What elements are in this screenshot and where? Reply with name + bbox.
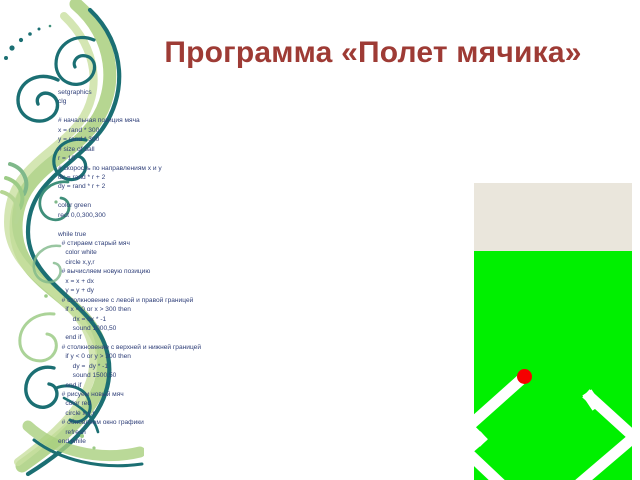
code-line: y = rand * 300	[58, 135, 308, 144]
code-line: dy = dy * -1	[58, 362, 308, 371]
code-line: # столкновение с левой и правой границей	[58, 296, 308, 305]
code-line	[58, 220, 308, 229]
graphics-canvas	[474, 251, 632, 480]
code-line: if y < 0 or y > 300 then	[58, 352, 308, 361]
graphics-output-window	[474, 183, 632, 480]
code-line: color green	[58, 201, 308, 210]
code-line: # начальная позиция мяча	[58, 116, 308, 125]
code-line: dx = rand * r + 2	[58, 173, 308, 182]
code-line: # столкновение с верхней и нижней границ…	[58, 343, 308, 352]
code-line: # скорость по направлениям x и y	[58, 164, 308, 173]
code-line: end while	[58, 437, 308, 446]
code-line: rect 0,0,300,300	[58, 211, 308, 220]
code-line: r = 10	[58, 154, 308, 163]
code-line	[58, 107, 308, 116]
code-line: clg	[58, 97, 308, 106]
code-line: if x < 0 or x > 300 then	[58, 305, 308, 314]
code-line: color red	[58, 399, 308, 408]
presentation-slide: Программа «Полет мячика» setgraphicsclg …	[0, 0, 640, 480]
code-line: # обновляем окно графики	[58, 418, 308, 427]
code-line: color white	[58, 248, 308, 257]
code-line: end if	[58, 333, 308, 342]
code-line: circle x,y,r	[58, 258, 308, 267]
code-line: dx = dx * -1	[58, 315, 308, 324]
code-line: while true	[58, 230, 308, 239]
code-line: x = rand * 300	[58, 126, 308, 135]
code-line: refresh	[58, 428, 308, 437]
ball-trail	[474, 377, 632, 480]
slide-title: Программа «Полет мячика»	[128, 36, 618, 71]
code-line: # вычисляем новую позицию	[58, 267, 308, 276]
code-line: # size of ball	[58, 145, 308, 154]
code-line: # рисуем новый мяч	[58, 390, 308, 399]
code-line: sound 1000,50	[58, 324, 308, 333]
code-line: end if	[58, 381, 308, 390]
program-code-listing: setgraphicsclg # начальная позиция мячаx…	[58, 88, 308, 447]
code-line: y = y + dy	[58, 286, 308, 295]
code-line: sound 1500,50	[58, 371, 308, 380]
ball-sprite	[517, 369, 532, 384]
code-line: setgraphics	[58, 88, 308, 97]
code-line: # стираем старый мяч	[58, 239, 308, 248]
code-line: x = x + dx	[58, 277, 308, 286]
code-line: circle x,y,r	[58, 409, 308, 418]
code-line: dy = rand * r + 2	[58, 182, 308, 191]
code-line	[58, 192, 308, 201]
